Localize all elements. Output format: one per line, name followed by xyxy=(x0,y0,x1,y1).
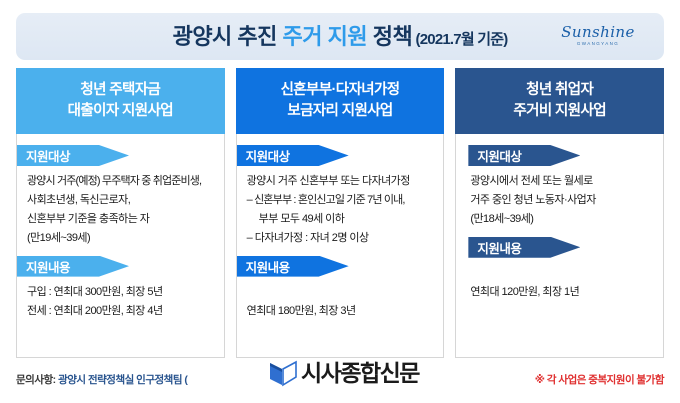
section-banner-benefits: 지원내용 xyxy=(468,237,580,258)
page-title: 광양시 추진 주거 지원 정책 (2021.7월 기준) xyxy=(173,26,508,48)
text-line: – 신혼부부 : 혼인신고일 기준 7년 이내, xyxy=(247,191,434,210)
section-eligibility: 지원대상 광양시 거주 신혼부부 또는 다자녀가정 – 신혼부부 : 혼인신고일… xyxy=(237,145,444,248)
policy-title-line-1: 신혼부부·다자녀가정 xyxy=(281,80,400,101)
text-line: 광양시에서 전세 또는 월세로 xyxy=(470,172,653,191)
logo-subtitle-text: GWANGYANG xyxy=(552,42,644,47)
policy-card-header: 청년 취업자 주거비 지원사업 xyxy=(455,68,664,134)
policy-title-line-1: 청년 주택자금 xyxy=(80,80,160,101)
section-benefits: 지원내용 구입 : 연최대 300만원, 최장 5년 전세 : 연최대 200만… xyxy=(17,256,224,321)
section-banner-wrap: 지원내용 xyxy=(17,256,224,277)
section-eligibility-text: 광양시 거주(예정) 무주택자 중 취업준비생, 사회초년생, 독신근로자, 신… xyxy=(17,166,224,248)
section-banner-wrap: 지원내용 xyxy=(237,256,444,277)
section-eligibility: 지원대상 광양시에서 전세 또는 월세로 거주 중인 청년 노동자·사업자 (만… xyxy=(456,145,663,229)
section-eligibility-text: 광양시 거주 신혼부부 또는 다자녀가정 – 신혼부부 : 혼인신고일 기준 7… xyxy=(237,166,444,248)
section-banner-eligibility: 지원대상 xyxy=(468,145,580,166)
section-banner-wrap: 지원대상 xyxy=(237,145,444,166)
page-title-part2: 정책 xyxy=(367,24,412,49)
section-benefits: 지원내용 연최대 180만원, 최장 3년 xyxy=(237,256,444,321)
footer-contact: 문의사항: 광양시 전략정책실 인구정책팀 ( xyxy=(16,372,187,387)
text-line: 전세 : 연최대 200만원, 최장 4년 xyxy=(27,302,214,321)
section-banner-eligibility: 지원대상 xyxy=(237,145,349,166)
page-title-date: (2021.7월 기준) xyxy=(412,31,507,48)
text-line: (만19세~39세) xyxy=(27,229,214,248)
section-banner-wrap: 지원대상 xyxy=(456,145,663,166)
footer-contact-label: 문의사항: xyxy=(16,374,58,386)
policy-columns: 청년 주택자금 대출이자 지원사업 지원대상 광양시 거주(예정) 무주택자 중… xyxy=(16,68,664,358)
policy-title-line-2: 주거비 지원사업 xyxy=(513,101,606,122)
text-line: (만18세~39세) xyxy=(470,210,653,229)
page-title-bar: 광양시 추진 주거 지원 정책 (2021.7월 기준) Sunshine GW… xyxy=(16,13,664,60)
section-banner-eligibility: 지원대상 xyxy=(17,145,129,166)
section-eligibility: 지원대상 광양시 거주(예정) 무주택자 중 취업준비생, 사회초년생, 독신근… xyxy=(17,145,224,248)
section-benefits-text: 연최대 180만원, 최장 3년 xyxy=(237,277,444,321)
policy-card-newlywed-multichild-home: 신혼부부·다자녀가정 보금자리 지원사업 지원대상 광양시 거주 신혼부부 또는… xyxy=(236,68,445,358)
text-line xyxy=(247,283,434,302)
footer-contact-value: 광양시 전략정책실 인구정책팀 ( xyxy=(58,374,187,386)
text-line: 광양시 거주 신혼부부 또는 다자녀가정 xyxy=(247,172,434,191)
page-footer: 문의사항: 광양시 전략정책실 인구정책팀 ( ※ 각 사업은 중복지원이 불가… xyxy=(16,368,664,390)
section-eligibility-text: 광양시에서 전세 또는 월세로 거주 중인 청년 노동자·사업자 (만18세~3… xyxy=(456,166,663,229)
policy-title-line-2: 보금자리 지원사업 xyxy=(287,101,392,122)
text-line: 신혼부부 기준을 충족하는 자 xyxy=(27,210,214,229)
text-line: – 다자녀가정 : 자녀 2명 이상 xyxy=(247,229,434,248)
policy-card-header: 청년 주택자금 대출이자 지원사업 xyxy=(16,68,225,134)
page-title-accent: 주거 지원 xyxy=(283,24,368,49)
text-line: 광양시 거주(예정) 무주택자 중 취업준비생, xyxy=(27,172,214,191)
text-line: 구입 : 연최대 300만원, 최장 5년 xyxy=(27,283,214,302)
text-line xyxy=(470,264,653,283)
section-banner-benefits: 지원내용 xyxy=(237,256,349,277)
policy-title-line-1: 청년 취업자 xyxy=(526,80,593,101)
policy-card-body: 지원대상 광양시에서 전세 또는 월세로 거주 중인 청년 노동자·사업자 (만… xyxy=(455,134,664,358)
policy-card-body: 지원대상 광양시 거주 신혼부부 또는 다자녀가정 – 신혼부부 : 혼인신고일… xyxy=(236,134,445,358)
policy-card-youth-employed-housing-cost: 청년 취업자 주거비 지원사업 지원대상 광양시에서 전세 또는 월세로 거주 … xyxy=(455,68,664,358)
section-banner-wrap: 지원내용 xyxy=(456,237,663,258)
text-line: 연최대 120만원, 최장 1년 xyxy=(470,283,653,302)
text-line: 연최대 180만원, 최장 3년 xyxy=(247,302,434,321)
sunshine-gwangyang-logo: Sunshine GWANGYANG xyxy=(552,25,644,47)
policy-card-header: 신혼부부·다자녀가정 보금자리 지원사업 xyxy=(236,68,445,134)
policy-card-body: 지원대상 광양시 거주(예정) 무주택자 중 취업준비생, 사회초년생, 독신근… xyxy=(16,134,225,358)
section-benefits: 지원내용 연최대 120만원, 최장 1년 xyxy=(456,237,663,302)
section-banner-wrap: 지원대상 xyxy=(17,145,224,166)
page-title-part1: 광양시 추진 xyxy=(173,24,283,49)
text-line: 거주 중인 청년 노동자·사업자 xyxy=(470,191,653,210)
section-benefits-text: 연최대 120만원, 최장 1년 xyxy=(456,258,663,302)
text-line: 부부 모두 49세 이하 xyxy=(247,210,434,229)
section-banner-benefits: 지원내용 xyxy=(17,256,129,277)
policy-title-line-2: 대출이자 지원사업 xyxy=(68,101,173,122)
section-benefits-text: 구입 : 연최대 300만원, 최장 5년 전세 : 연최대 200만원, 최장… xyxy=(17,277,224,321)
policy-card-youth-housing-loan: 청년 주택자금 대출이자 지원사업 지원대상 광양시 거주(예정) 무주택자 중… xyxy=(16,68,225,358)
logo-script-text: Sunshine xyxy=(552,25,644,40)
footer-note: ※ 각 사업은 중복지원이 불가함 xyxy=(535,372,664,387)
text-line: 사회초년생, 독신근로자, xyxy=(27,191,214,210)
